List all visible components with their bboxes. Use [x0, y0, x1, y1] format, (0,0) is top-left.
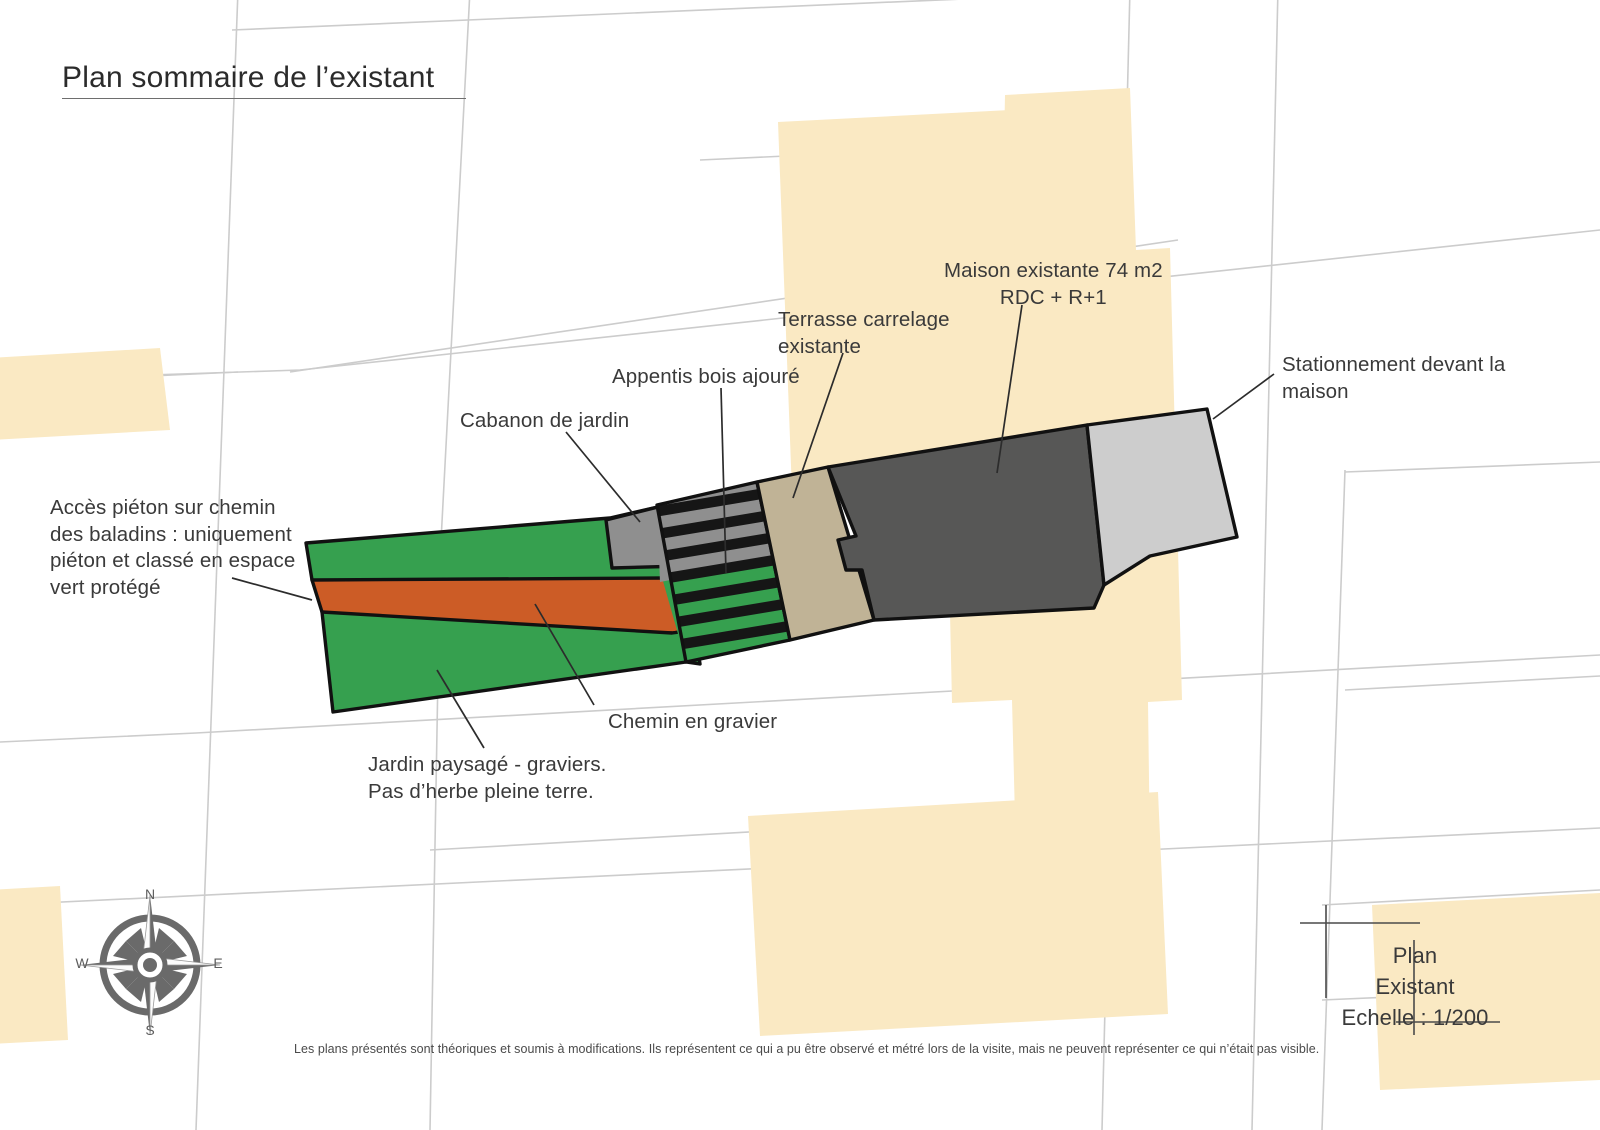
- compass-label-north: N: [138, 886, 162, 902]
- compass-rose: [80, 895, 220, 1035]
- compass-hub-inner: [143, 958, 157, 972]
- compass-label-east: E: [206, 955, 230, 971]
- annotation-acces-pieton: Accès piéton sur chemin des baladins : u…: [50, 495, 295, 602]
- annotation-appentis-bois-ajoure: Appentis bois ajouré: [612, 364, 800, 391]
- annotation-terrasse-carrelage: Terrasse carrelage existante: [778, 307, 950, 360]
- annotation-jardin-paysage: Jardin paysagé - graviers. Pas d’herbe p…: [368, 752, 606, 805]
- annotation-stationnement: Stationnement devant la maison: [1282, 352, 1505, 405]
- title-underline: [62, 98, 466, 99]
- context-building-southwest: [0, 886, 68, 1044]
- context-building-southcentre: [748, 792, 1168, 1036]
- annotation-cabanon-de-jardin: Cabanon de jardin: [460, 408, 629, 435]
- scale-block: Plan Existant Echelle : 1/200: [1340, 940, 1490, 1034]
- leader-stationnement: [1213, 374, 1274, 419]
- context-building-west-edge: [0, 348, 170, 440]
- annotation-chemin-en-gravier: Chemin en gravier: [608, 709, 777, 736]
- compass-label-west: W: [70, 955, 94, 971]
- leader-cabanon: [566, 432, 640, 522]
- disclaimer-footnote: Les plans présentés sont théoriques et s…: [294, 1041, 1319, 1057]
- page-title: Plan sommaire de l’existant: [62, 58, 434, 97]
- compass-label-south: S: [138, 1022, 162, 1038]
- annotation-maison-existante: Maison existante 74 m2 RDC + R+1: [944, 258, 1163, 311]
- plan-drawing-root: Plan sommaire de l’existant Accès piéton…: [0, 0, 1600, 1130]
